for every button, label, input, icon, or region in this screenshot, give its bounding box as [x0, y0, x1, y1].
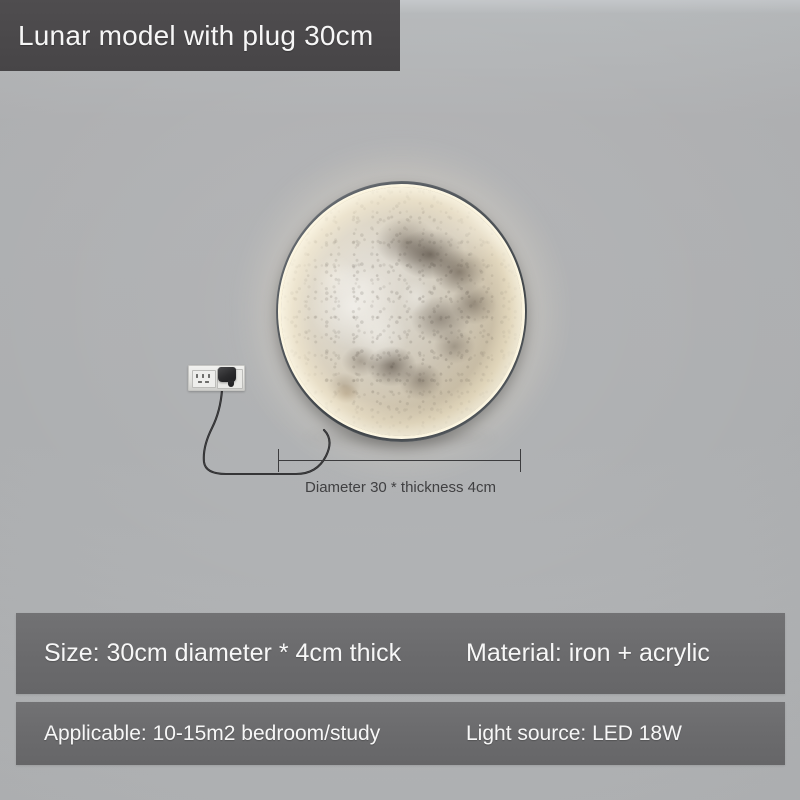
spec-material-label: Material: iron + acrylic — [466, 639, 710, 668]
socket-hole — [208, 374, 210, 378]
spec-size-label: Size: 30cm diameter * 4cm thick — [44, 639, 401, 668]
moon-lamp-icon — [281, 187, 522, 436]
moon-acrylic-sheen — [281, 187, 522, 436]
socket-hole — [198, 381, 202, 383]
dimension-caption: Diameter 30 * thickness 4cm — [278, 479, 523, 496]
plug-cable-neck — [228, 379, 234, 387]
moon-lamp — [276, 181, 527, 442]
socket-outlet-left — [192, 370, 216, 388]
dimension-line-horizontal — [278, 460, 521, 461]
product-image: Lunar model with plug 30cm — [0, 0, 800, 800]
socket-hole — [205, 381, 209, 383]
title-text: Lunar model with plug 30cm — [0, 20, 373, 52]
socket-hole — [202, 374, 204, 378]
dimension-tick-left — [278, 449, 279, 472]
wall-socket-icon — [188, 365, 245, 391]
title-banner: Lunar model with plug 30cm — [0, 0, 400, 71]
spec-row-applicable-lightsource: Applicable: 10-15m2 bedroom/study Light … — [16, 702, 785, 765]
dimension-tick-right — [520, 449, 521, 472]
socket-hole — [196, 374, 198, 378]
spec-applicable-label: Applicable: 10-15m2 bedroom/study — [44, 722, 380, 746]
spec-light-source-label: Light source: LED 18W — [466, 722, 682, 746]
spec-row-size-material: Size: 30cm diameter * 4cm thick Material… — [16, 613, 785, 694]
dimension-line — [278, 449, 521, 473]
